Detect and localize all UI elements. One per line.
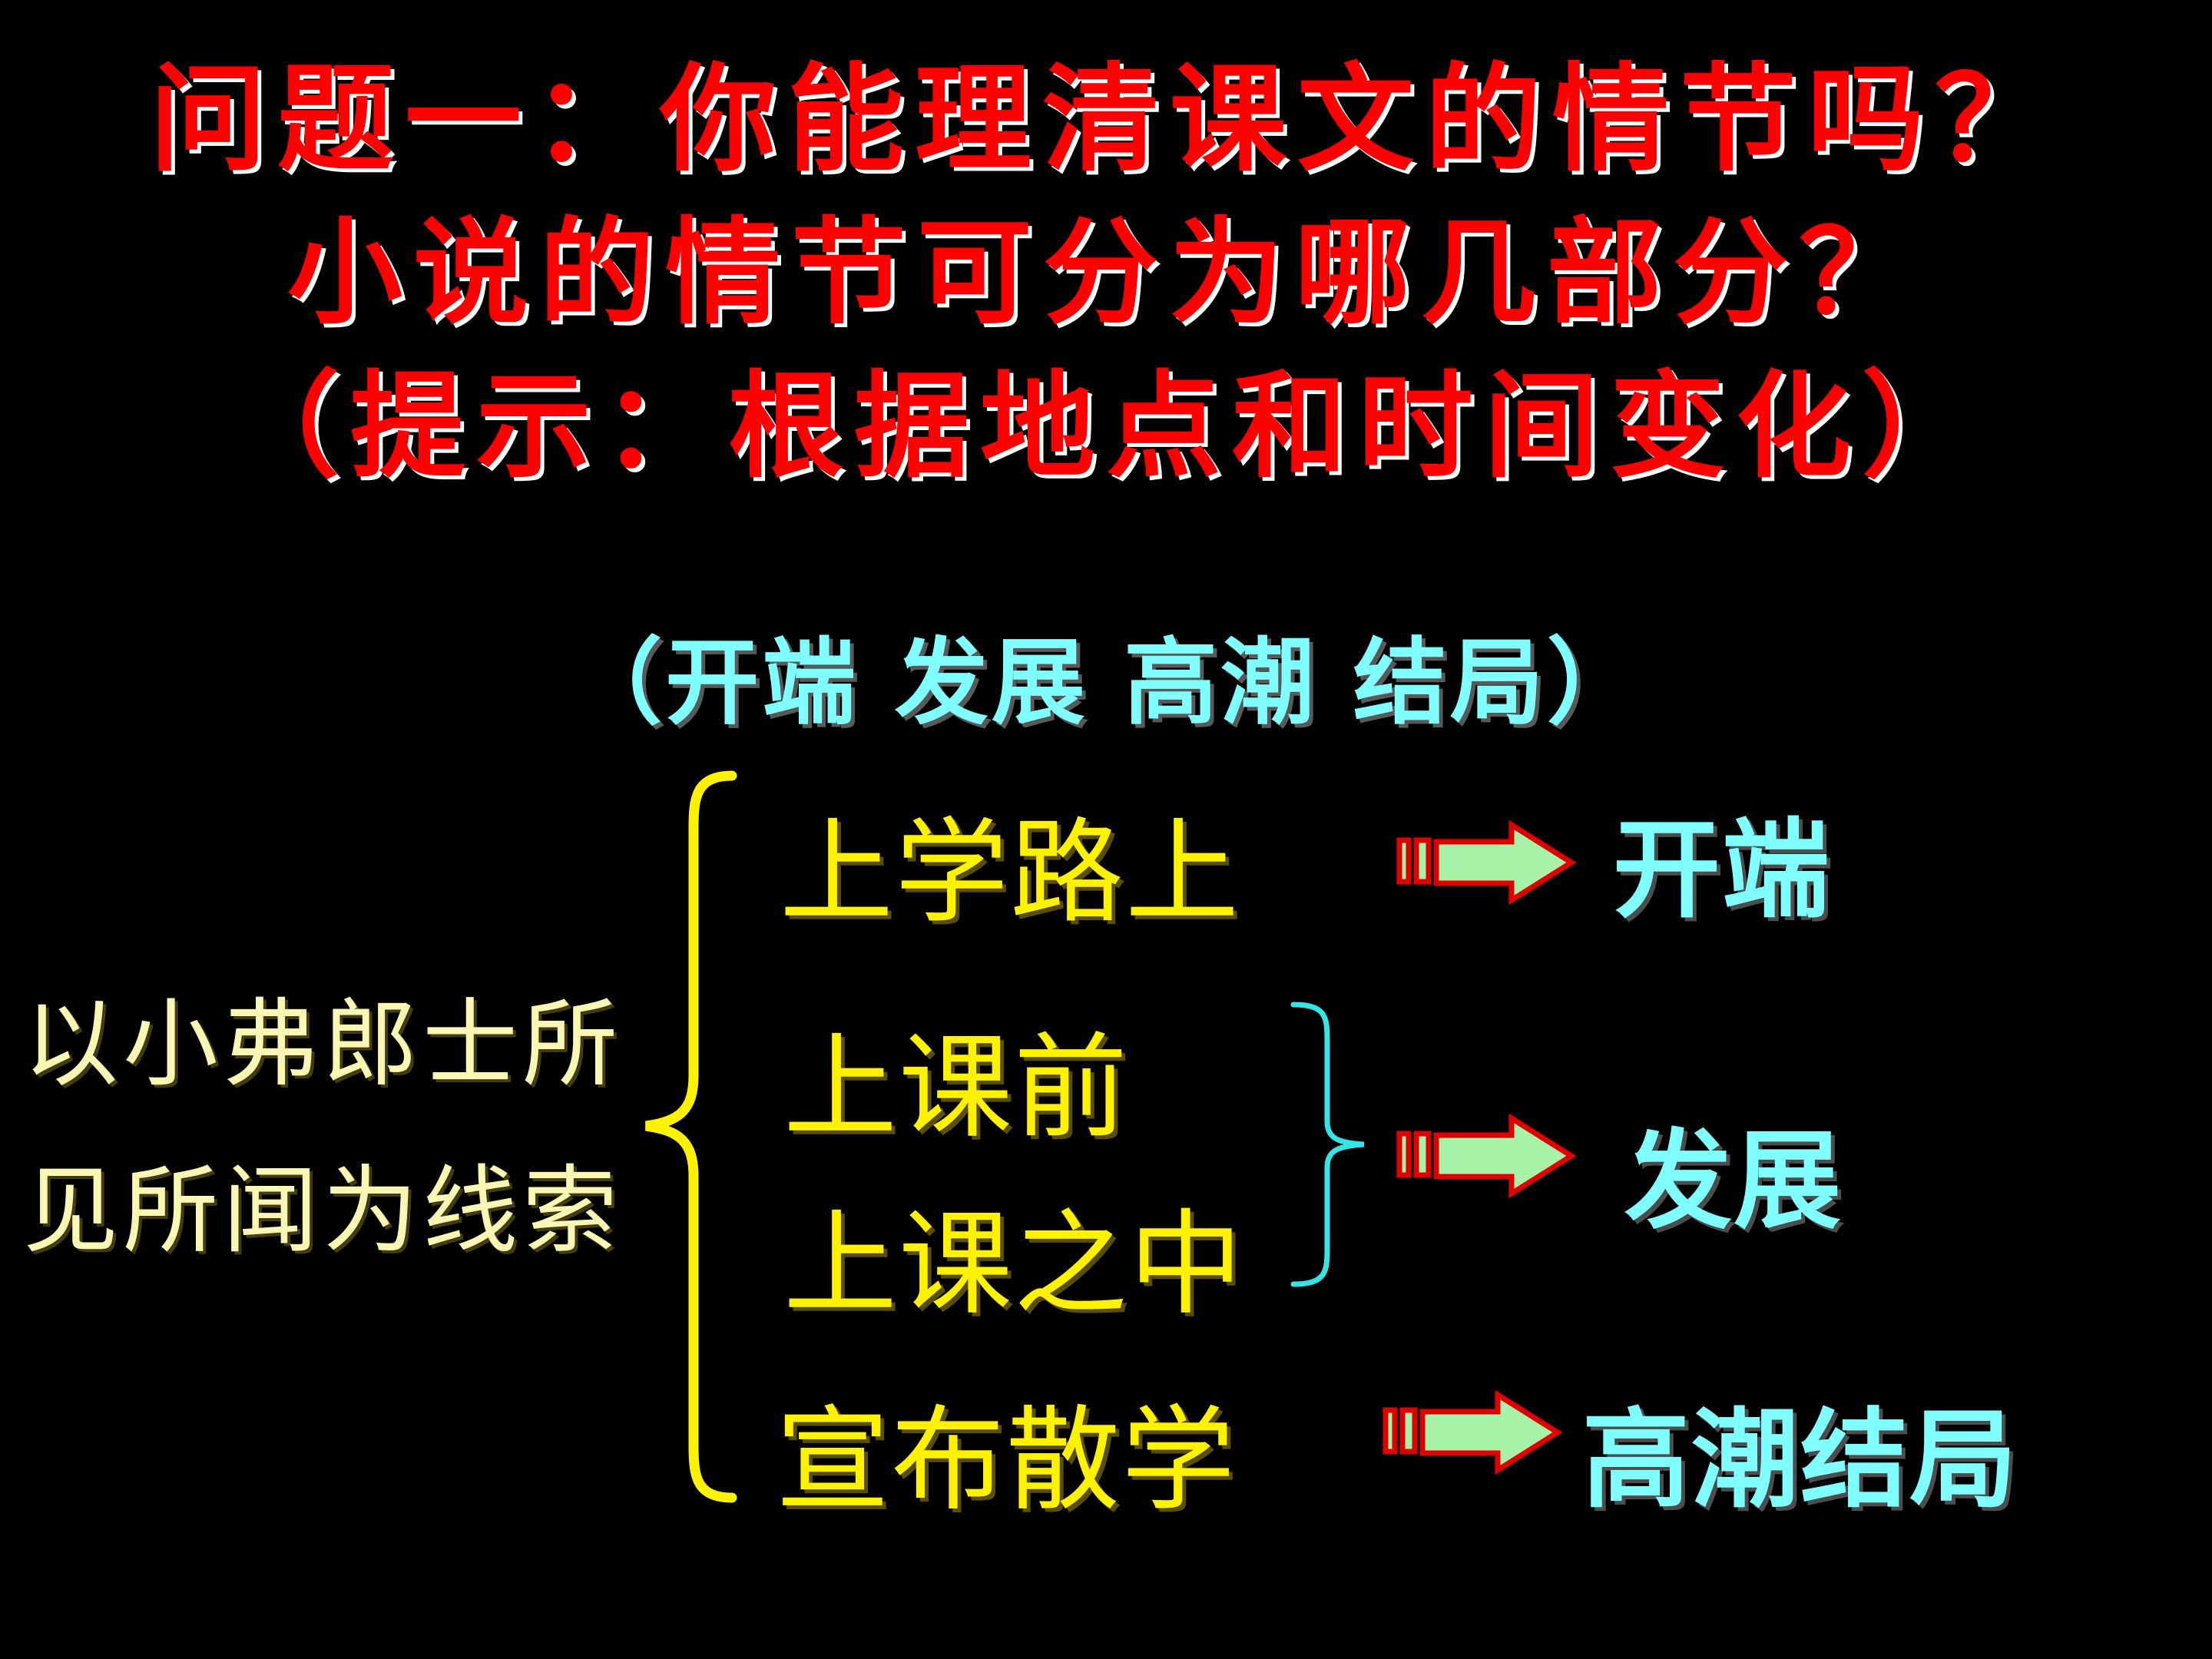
stage-text-3: 上课之中 bbox=[783, 1171, 1244, 1336]
right-arrow-icon-2 bbox=[1396, 1114, 1588, 1198]
subtitle-plot-stages: （开端 发展 高潮 结局） bbox=[0, 607, 2212, 743]
title-line-3: （提示：根据地点和时间变化） bbox=[0, 351, 2212, 505]
phase-label-2: 发展 bbox=[1624, 1094, 1843, 1250]
slide-canvas: 问题一：你能理清课文的情节吗？ 小说的情节可分为哪几部分？ （提示：根据地点和时… bbox=[0, 0, 2212, 1659]
lead-label-line-1: 以小弗郎士所 bbox=[23, 962, 707, 1128]
stage-text-2: 上课前 bbox=[783, 995, 1129, 1160]
phase-label-1: 开端 bbox=[1613, 783, 1831, 939]
lead-label-line-2: 见所闻为线索 bbox=[23, 1128, 707, 1295]
right-arrow-icon-1 bbox=[1396, 820, 1588, 905]
title-line-1: 问题一：你能理清课文的情节吗？ bbox=[0, 42, 2212, 197]
right-arrow-icon-3 bbox=[1382, 1390, 1575, 1475]
stage-text-4: 宣布散学 bbox=[776, 1367, 1237, 1532]
title-block: 问题一：你能理清课文的情节吗？ 小说的情节可分为哪几部分？ （提示：根据地点和时… bbox=[0, 42, 2212, 504]
small-cyan-brace bbox=[1284, 998, 1376, 1290]
big-yellow-brace bbox=[634, 768, 757, 1505]
stage-text-1: 上学路上 bbox=[780, 780, 1240, 945]
lead-label: 以小弗郎士所 见所闻为线索 bbox=[23, 962, 707, 1295]
phase-label-3: 高潮结局 bbox=[1582, 1373, 2018, 1528]
title-line-2: 小说的情节可分为哪几部分？ bbox=[0, 197, 2212, 351]
